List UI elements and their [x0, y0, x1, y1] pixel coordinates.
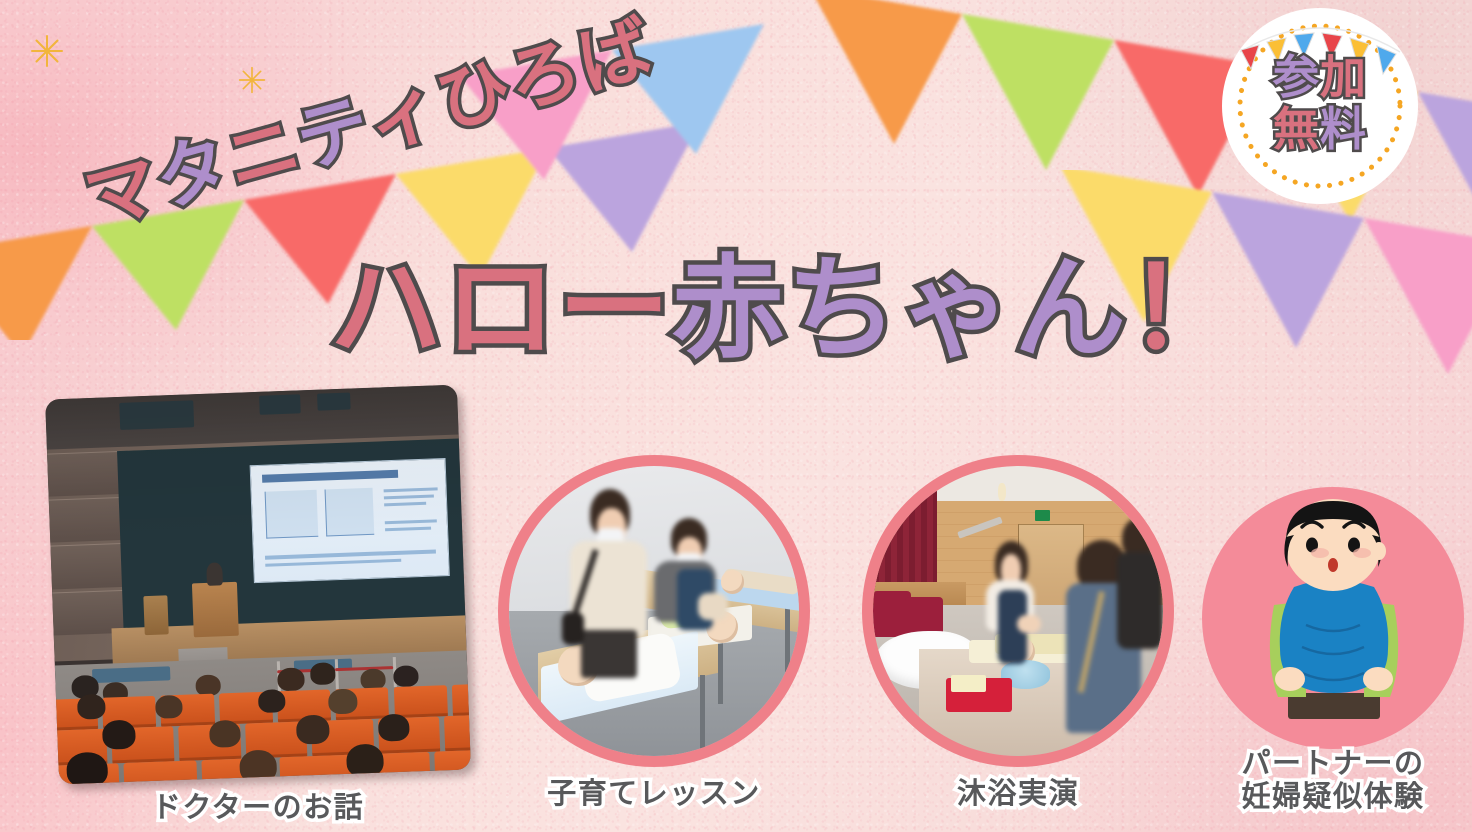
poster-subtitle: マタニティひろば — [78, 12, 660, 237]
badge-char: 料 — [1320, 104, 1367, 156]
title-char: ゃ — [900, 253, 1014, 365]
bath-scene — [873, 466, 1163, 756]
title-char: ！ — [1128, 253, 1242, 365]
badge-char: 加 — [1320, 52, 1367, 104]
title-char: ハ — [330, 253, 444, 365]
photo-parenting-lesson — [498, 455, 810, 767]
partner-illustration — [1202, 487, 1464, 749]
poster-title: ハロー赤ちゃん！ — [330, 253, 1242, 365]
caption-parenting-lesson: 子育てレッスン — [498, 778, 810, 811]
free-participation-badge: 参加 無料 — [1222, 8, 1418, 204]
illustration-mouth — [1328, 558, 1338, 572]
illustration-cheek-left — [1311, 548, 1329, 558]
photo-doctor-talk — [45, 385, 471, 785]
photo-partner-simulation — [1202, 487, 1464, 749]
caption-partner-simulation: パートナーの 妊婦疑似体験 — [1192, 748, 1472, 814]
badge-text: 参加 無料 — [1222, 52, 1418, 155]
illustration-hand-left — [1275, 667, 1305, 691]
badge-char: 無 — [1273, 104, 1320, 156]
caption-bathing-demo: 沐浴実演 — [862, 778, 1174, 811]
badge-char: 参 — [1273, 52, 1320, 104]
title-char: ち — [786, 253, 900, 365]
illustration-hand-right — [1363, 667, 1393, 691]
photo-bathing-demo — [862, 455, 1174, 767]
badge-line-1: 参加 — [1222, 52, 1418, 104]
title-char: ー — [558, 253, 672, 365]
caption-doctor-talk: ドクターのお話 — [48, 792, 468, 825]
lesson-scene — [509, 466, 799, 756]
title-char: 赤 — [672, 253, 786, 365]
lecture-hall-scene — [45, 385, 471, 785]
poster-root: マタニティひろば ハロー赤ちゃん！ 参加 無料 — [0, 0, 1472, 832]
illustration-cheek-right — [1353, 548, 1371, 558]
title-char: ロ — [444, 253, 558, 365]
title-char: ん — [1014, 253, 1128, 365]
caption-partner-line-1: パートナーの — [1192, 748, 1472, 781]
caption-partner-line-2: 妊婦疑似体験 — [1192, 781, 1472, 814]
badge-line-2: 無料 — [1222, 104, 1418, 156]
illustration-ear — [1372, 542, 1386, 560]
